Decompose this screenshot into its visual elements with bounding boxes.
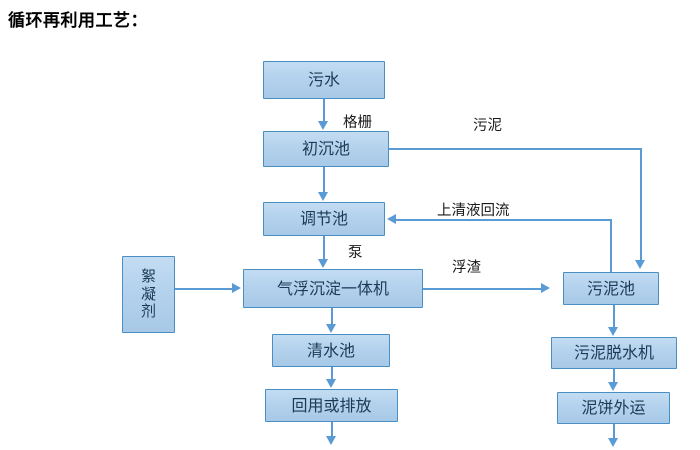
arrowhead-sludge-to-sludge-pool (635, 260, 645, 269)
node-flocculant-label-line2: 凝 (141, 286, 156, 304)
node-sludge-pool-label: 污泥池 (587, 280, 635, 298)
node-primary-sedimentation-tank-label: 初沉池 (302, 140, 350, 158)
node-regulating-tank-label: 调节池 (300, 210, 348, 228)
node-sludge-dewatering-machine[interactable]: 污泥脱水机 (551, 337, 677, 369)
arrowhead-primary-tank-to-regulating-tank (318, 192, 328, 201)
connector-mud-cake-outflow (613, 424, 615, 439)
connector-regulating-tank-to-flotation-machine (323, 236, 325, 259)
connector-sludge-pool-to-dewaterer (613, 305, 615, 327)
arrowhead-clean-water-tank-to-reuse (326, 379, 336, 388)
node-flocculant-label-line3: 剂 (141, 303, 156, 321)
arrowhead-reuse-outflow (326, 436, 336, 445)
node-primary-sedimentation-tank[interactable]: 初沉池 (263, 131, 389, 167)
arrowhead-wastewater-to-primary-tank (318, 121, 328, 130)
connector-dewaterer-to-mud-cake (613, 369, 615, 382)
node-clean-water-tank[interactable]: 清水池 (272, 334, 390, 367)
node-mud-cake-transport[interactable]: 泥饼外运 (557, 392, 670, 424)
node-regulating-tank[interactable]: 调节池 (263, 202, 385, 236)
arrowhead-sludge-pool-to-dewaterer (608, 327, 618, 336)
arrowhead-dewaterer-to-mud-cake (608, 382, 618, 391)
diagram-canvas: 循环再利用工艺： 污水 初沉池 调节池 絮 凝 剂 气浮沉淀一体机 清水池 回用… (0, 0, 700, 450)
connector-flocculant-to-flotation-machine (175, 288, 233, 290)
node-flotation-sedimentation-machine[interactable]: 气浮沉淀一体机 (243, 269, 423, 308)
connector-sludge-vertical (640, 148, 642, 260)
page-title: 循环再利用工艺： (8, 6, 148, 31)
edge-label-supernatant-reflux: 上清液回流 (437, 199, 510, 220)
connector-supernatant-vertical (610, 219, 612, 272)
connector-scum-to-sludge-pool (423, 288, 542, 290)
arrowhead-supernatant-to-regulating-tank (387, 214, 396, 224)
arrowhead-regulating-tank-to-flotation-machine (318, 259, 328, 268)
edge-label-pump: 泵 (348, 241, 363, 262)
arrowhead-scum-to-sludge-pool (541, 283, 550, 293)
connector-sludge-horizontal (389, 148, 642, 150)
edge-label-scum: 浮渣 (452, 256, 481, 277)
node-sludge-dewatering-machine-label: 污泥脱水机 (574, 344, 654, 362)
node-mud-cake-transport-label: 泥饼外运 (581, 399, 645, 417)
node-flotation-sedimentation-machine-label: 气浮沉淀一体机 (277, 280, 389, 298)
node-flocculant[interactable]: 絮 凝 剂 (122, 256, 175, 333)
arrowhead-flocculant-to-flotation-machine (232, 283, 241, 293)
node-flocculant-label-line1: 絮 (141, 268, 156, 286)
node-reuse-or-discharge-label: 回用或排放 (291, 397, 371, 415)
node-clean-water-tank-label: 清水池 (307, 342, 355, 360)
arrowhead-mud-cake-outflow (608, 438, 618, 447)
connector-primary-tank-to-regulating-tank (323, 167, 325, 192)
connector-flotation-machine-to-clean-water-tank (331, 308, 333, 324)
connector-wastewater-to-primary-tank (323, 99, 325, 122)
node-sludge-pool[interactable]: 污泥池 (563, 272, 659, 305)
edge-label-sludge: 污泥 (473, 114, 502, 135)
connector-clean-water-tank-to-reuse (331, 367, 333, 379)
node-reuse-or-discharge[interactable]: 回用或排放 (265, 389, 398, 422)
node-wastewater[interactable]: 污水 (263, 61, 385, 99)
node-wastewater-label: 污水 (308, 71, 340, 89)
edge-label-grating: 格栅 (343, 111, 372, 132)
arrowhead-flotation-machine-to-clean-water-tank (326, 324, 336, 333)
